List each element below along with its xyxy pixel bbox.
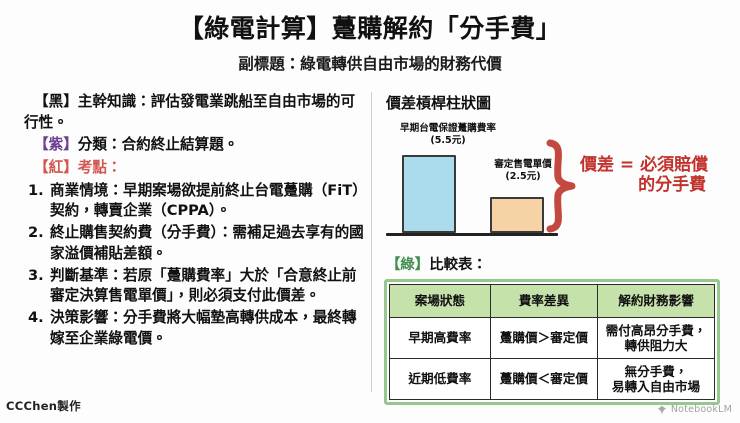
bar-1 [490,197,544,233]
bar-value-0: (5.5元) [430,135,465,146]
category-line: 【紫】分類：合約終止結算題。 [24,134,364,155]
list-item: 終止購售契約費（分手費）：需補足過去享有的國家溢價補貼差額。 [24,223,364,264]
column-divider [371,92,372,392]
keypoint-line: 【紅】考點： [24,157,364,178]
table-row: 近期低費率 躉購價＜審定價 無分手費， 易轉入自由市場 [390,359,715,400]
table-cell: 躉購價＞審定價 [490,318,597,359]
table-header-cell: 費率差異 [490,285,597,318]
keypoint-text: 考點： [78,159,122,176]
page-title: 【綠電計算】躉購解約「分手費」 [0,14,740,44]
watermark-label: NotebookLM [671,404,732,415]
list-item: 判斷基準：若原「躉購費率」大於「合意終止前審定決算售電單價」，則必須支付此價差。 [24,266,364,307]
slide-canvas: 【綠電計算】躉購解約「分手費」 副標題：綠電轉供自由市場的財務代價 【黑】主幹知… [0,0,740,423]
bar-0 [402,155,456,233]
table-cell: 無分手費， 易轉入自由市場 [598,359,715,400]
annotation-line-1: 價差 = 必須賠償 [580,155,708,175]
table-header-row: 案場狀態 費率差異 解約財務影響 [390,285,715,318]
slide-header: 【綠電計算】躉購解約「分手費」 副標題：綠電轉供自由市場的財務代價 [0,14,740,74]
table-header-cell: 解約財務影響 [598,285,715,318]
table-caption: 【綠】比較表： [386,253,728,274]
keypoint-list: 商業情境：早期案場欲提前終止台電躉購（FiT）契約，轉賣企業（CPPA）。 終止… [24,181,364,350]
table-cell: 躉購價＜審定價 [490,359,597,400]
category-tag: 【紫】 [34,136,78,153]
lead-knowledge-line: 【黑】主幹知識：評估發電業跳船至自由市場的可行性。 [24,92,364,133]
table-cell: 近期低費率 [390,359,491,400]
comparison-table: 案場狀態 費率差異 解約財務影響 早期高費率 躉購價＞審定價 需付高昂分手費， … [389,284,715,400]
bar-chart: 早期台電保證躉購費率 (5.5元) 審定售電單價 (2.5元) 價差 = [384,117,728,245]
chart-baseline [386,233,558,236]
table-caption-text: 比較表： [429,257,487,273]
list-item: 決策影響：分手費將大幅墊高轉供成本，最終轉嫁至企業綠電價。 [24,308,364,349]
list-item: 商業情境：早期案場欲提前終止台電躉購（FiT）契約，轉賣企業（CPPA）。 [24,181,364,222]
price-gap-annotation: 價差 = 必須賠償 的分手費 [580,155,708,196]
right-content-column: 價差槓桿柱狀圖 早期台電保證躉購費率 (5.5元) 審定售電單價 (2.5元) [384,92,728,405]
price-gap-brace-icon [544,139,578,233]
bar-label-0: 早期台電保證躉購費率 (5.5元) [378,123,518,146]
bar-value-1: (2.5元) [505,171,540,182]
chart-title: 價差槓桿柱狀圖 [386,92,728,113]
page-subtitle: 副標題：綠電轉供自由市場的財務代價 [0,52,740,74]
notebooklm-watermark: NotebookLM [657,400,732,419]
table-header-cell: 案場狀態 [390,285,491,318]
table-cell: 需付高昂分手費， 轉供阻力大 [598,318,715,359]
notebooklm-logo-icon [657,400,667,419]
table-cell: 早期高費率 [390,318,491,359]
author-credit: CCChen製作 [6,398,81,414]
category-text: 分類：合約終止結算題。 [78,136,239,153]
table-tag: 【綠】 [386,257,429,273]
annotation-line-2: 的分手費 [580,175,708,195]
bar-category-0: 早期台電保證躉購費率 [400,123,496,134]
left-content-column: 【黑】主幹知識：評估發電業跳船至自由市場的可行性。 【紫】分類：合約終止結算題。… [24,92,364,351]
table-row: 早期高費率 躉購價＞審定價 需付高昂分手費， 轉供阻力大 [390,318,715,359]
keypoint-tag: 【紅】 [34,159,78,176]
comparison-table-frame: 案場狀態 費率差異 解約財務影響 早期高費率 躉購價＞審定價 需付高昂分手費， … [384,279,720,405]
